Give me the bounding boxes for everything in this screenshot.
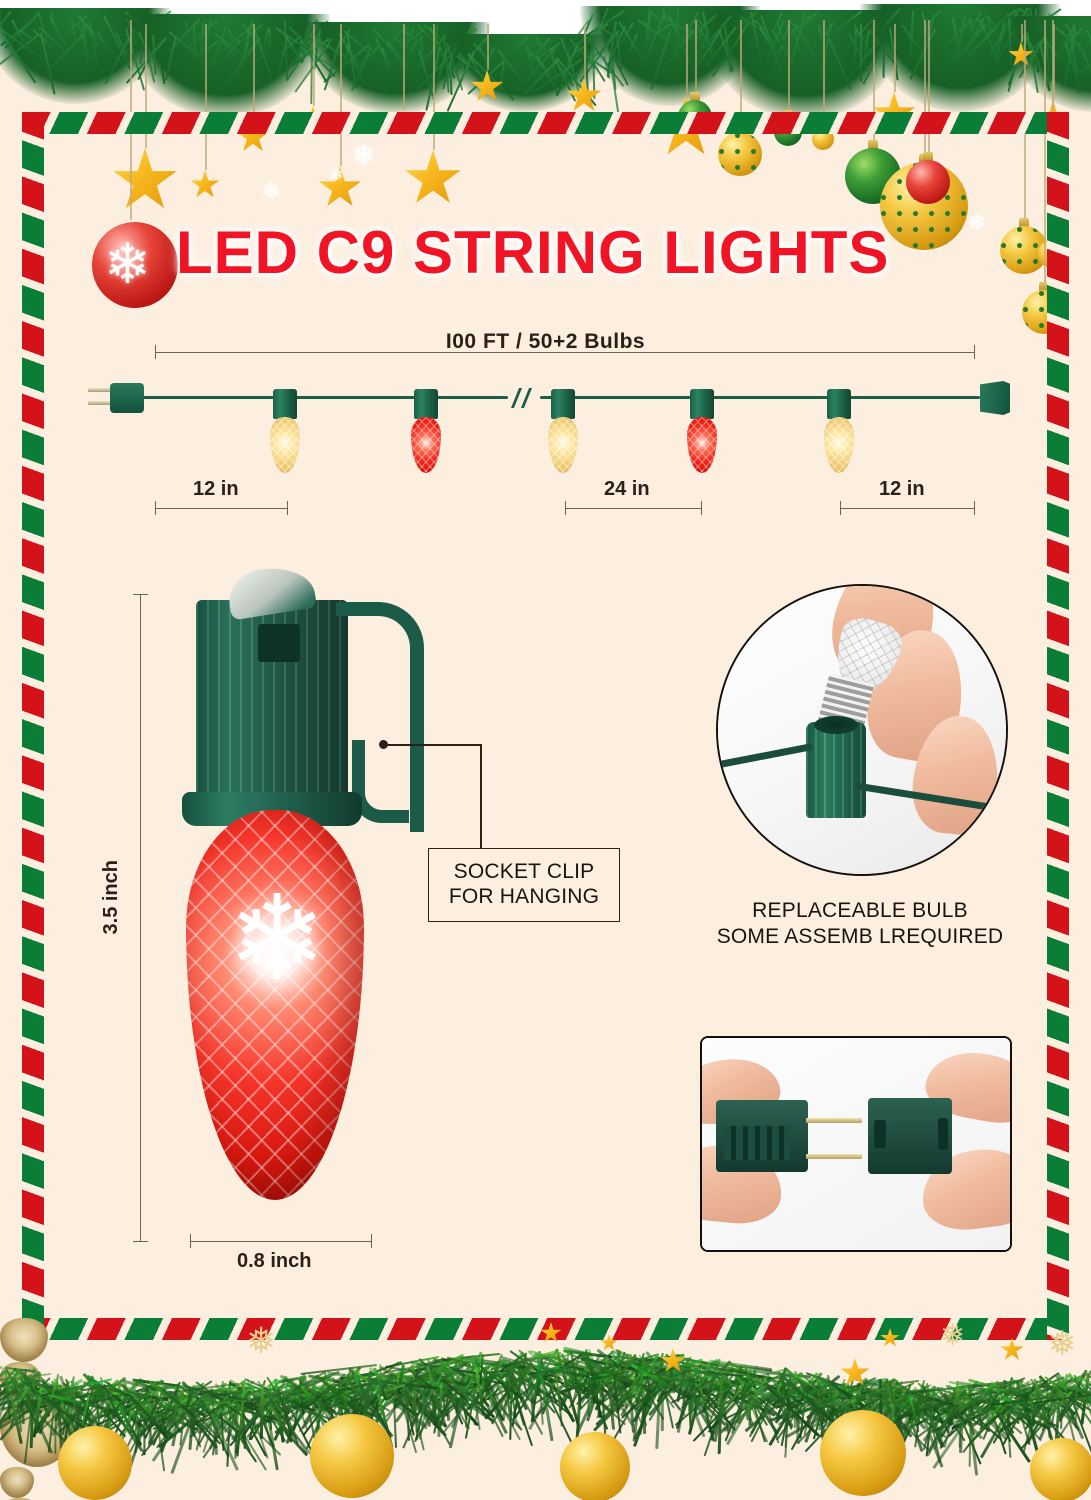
string-socket-2 [414, 389, 438, 419]
spacing-label-1: 12 in [193, 478, 239, 501]
callout-line-1: SOCKET CLIP [454, 860, 595, 885]
ornament-hanging-string [894, 24, 896, 92]
snowflake-icon: ❄ [1056, 292, 1071, 310]
gold-star-icon [112, 148, 178, 214]
female-connector-icon [980, 381, 1010, 415]
gold-snowflake-icon: ❅ [246, 1320, 276, 1362]
wire-break-icon-2 [521, 388, 532, 408]
pinecone-ornament [0, 1467, 34, 1498]
replaceable-caption-line-1: REPLACEABLE BULB [690, 898, 1030, 924]
string-socket-4 [690, 389, 714, 419]
ornament-hanging-string [873, 20, 875, 148]
snowflake-icon: ❄ [968, 212, 986, 234]
height-tick-top [133, 594, 148, 595]
callout-leader-vertical [480, 744, 482, 850]
bauble-ornament [812, 128, 834, 150]
width-tick-right [371, 1234, 372, 1248]
string-bulb-5 [824, 417, 854, 473]
string-bulb-3 [548, 417, 578, 473]
gold-bauble-ornament [310, 1414, 394, 1498]
gold-star-icon [404, 150, 462, 208]
hand-inserting-bulb-photo [716, 584, 1008, 876]
ornament-hanging-string [340, 24, 342, 166]
spacing-tick-2a [565, 501, 566, 515]
overall-dim-tick-right [974, 345, 975, 359]
replaceable-caption-line-2: SOME ASSEMB LREQUIRED [690, 924, 1030, 950]
ornament-hanging-string [695, 20, 697, 100]
ornament-hanging-string [403, 24, 405, 110]
width-tick-left [190, 1234, 191, 1248]
string-socket-3 [551, 389, 575, 419]
spacing-dim-line-2 [565, 508, 702, 509]
gold-snowflake-icon: ❅ [940, 1318, 965, 1353]
width-label: 0.8 inch [237, 1250, 311, 1273]
height-tick-bottom [133, 1241, 148, 1242]
height-dim-line [140, 594, 141, 1242]
ornament-hanging-string [130, 20, 132, 220]
spacing-label-3: 12 in [879, 478, 925, 501]
gold-star-icon [190, 170, 220, 200]
string-socket-5 [827, 389, 851, 419]
spacing-tick-2b [701, 501, 702, 515]
ornament-hanging-string [253, 24, 255, 120]
replaceable-bulb-caption: REPLACEABLE BULB SOME ASSEMB LREQUIRED [690, 898, 1030, 949]
height-label: 3.5 inch [100, 860, 123, 934]
snowflake-icon: ❄ [352, 142, 375, 170]
infographic-canvas: ❄❄❄❄❄❄❄ LED C9 STRING LIGHTS I00 FT / 50… [0, 0, 1091, 1500]
page-title: LED C9 STRING LIGHTS [176, 218, 889, 287]
bottom-garland-band: ❅❅❅ [0, 1318, 1091, 1500]
ornament-hanging-string [1024, 20, 1026, 226]
wire-segment-right [540, 396, 980, 399]
snowflake-icon: ❄ [1050, 222, 1072, 248]
pine-needle [860, 24, 862, 82]
ornament-hanging-string [686, 24, 688, 96]
ornament-hanging-string [433, 24, 435, 150]
callout-line-2: FOR HANGING [449, 885, 599, 910]
socket-clip-callout: SOCKET CLIP FOR HANGING [428, 848, 620, 922]
ornament-hanging-string [823, 20, 825, 128]
gold-snowflake-icon: ❅ [1048, 1324, 1077, 1364]
spacing-tick-3b [974, 501, 975, 515]
plug-prong-top [88, 388, 110, 392]
ornament-hanging-string [740, 20, 742, 132]
string-bulb-1 [270, 417, 300, 473]
ornament-hanging-string [924, 20, 926, 162]
ornament-hanging-string [145, 24, 147, 148]
ornament-hanging-string [584, 24, 586, 78]
gold-star-icon [880, 1328, 900, 1348]
gold-bauble-ornament [1030, 1438, 1091, 1500]
spacing-tick-1b [287, 501, 288, 515]
spec-label: I00 FT / 50+2 Bulbs [0, 330, 1091, 354]
ornament-hanging-string [313, 24, 315, 106]
string-socket-1 [273, 389, 297, 419]
ornament-hanging-string [928, 20, 930, 160]
callout-leader-horizontal [383, 744, 481, 746]
spacing-tick-3a [840, 501, 841, 515]
string-bulb-4 [687, 417, 717, 473]
overall-dim-tick-left [155, 345, 156, 359]
bauble-ornament [774, 118, 802, 146]
gold-star-icon [540, 1322, 562, 1344]
ornament-hanging-string [205, 24, 207, 170]
ornament-hanging-string [1052, 20, 1054, 240]
socket-notch [258, 624, 300, 662]
gold-bauble-ornament [820, 1410, 906, 1496]
bauble-ornament [906, 160, 950, 204]
c9-bulb-body [186, 810, 364, 1200]
snowflake-icon: ❄ [330, 168, 343, 184]
overall-dim-line [155, 352, 975, 353]
snowflake-icon: ❄ [262, 180, 280, 202]
ornament-hanging-string [1021, 24, 1023, 42]
width-dim-line [190, 1241, 372, 1242]
gold-bauble-ornament [560, 1432, 630, 1500]
plug-connector-photo [700, 1036, 1012, 1252]
callout-anchor-dot [379, 740, 388, 749]
plug-prong-bottom [88, 401, 110, 405]
ornament-hanging-string [1044, 20, 1046, 290]
male-plug-icon [110, 383, 144, 413]
spacing-dim-line-1 [155, 508, 288, 509]
pinecone-ornament [0, 1318, 48, 1362]
snowflake-icon: ❄ [218, 880, 336, 998]
bauble-ornament [678, 100, 712, 134]
gold-bauble-ornament [58, 1426, 132, 1500]
gold-star-icon [1000, 1338, 1024, 1362]
ornament-hanging-string [487, 24, 489, 70]
wire-segment-left [128, 396, 508, 399]
string-bulb-2 [411, 417, 441, 473]
border-left [22, 112, 44, 1340]
snowflake-icon: ❄ [104, 236, 151, 292]
wire-break-icon-1 [511, 388, 522, 408]
bauble-ornament [718, 132, 762, 176]
spacing-dim-line-3 [840, 508, 975, 509]
spacing-label-2: 24 in [604, 478, 650, 501]
ornament-hanging-string [788, 20, 790, 118]
spacing-tick-1a [155, 501, 156, 515]
